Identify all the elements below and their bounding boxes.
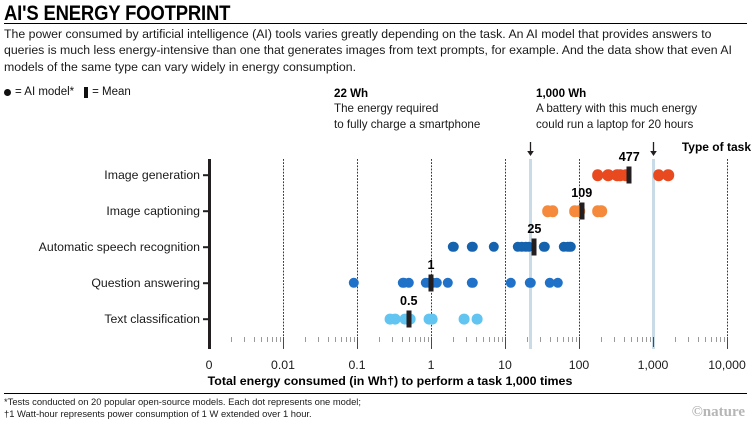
reference-arrow bbox=[649, 142, 659, 156]
x-tick-label: 1,000 bbox=[638, 358, 669, 372]
legend-mean-bar-icon bbox=[84, 87, 88, 98]
data-point bbox=[404, 278, 414, 288]
y-tick-image-captioning: Image captioning bbox=[4, 204, 200, 218]
y-tick-mark bbox=[203, 210, 209, 212]
x-tick-label: 1 bbox=[428, 358, 435, 372]
data-point bbox=[539, 242, 549, 252]
x-minor-tick bbox=[568, 337, 569, 342]
x-minor-tick bbox=[624, 337, 625, 342]
standfirst-text: The power consumed by artificial intelli… bbox=[4, 26, 746, 75]
infographic-root: AI'S ENERGY FOOTPRINT The power consumed… bbox=[0, 0, 751, 426]
data-point bbox=[448, 242, 458, 252]
x-tick-label: 10,000 bbox=[708, 358, 746, 372]
x-axis-title: Total energy consumed (in Wh†) to perfor… bbox=[0, 374, 751, 388]
mean-marker bbox=[579, 203, 584, 220]
footnote-1: *Tests conducted on 20 popular open-sour… bbox=[4, 396, 361, 408]
callout-1000wh-value: 1,000 Wh bbox=[536, 86, 697, 101]
x-minor-tick bbox=[716, 337, 717, 342]
x-minor-tick bbox=[350, 337, 351, 342]
x-tick-label: 100 bbox=[569, 358, 590, 372]
y-tick-image-generation: Image generation bbox=[4, 168, 200, 182]
y-tick-text-classification: Text classification bbox=[4, 312, 200, 326]
x-minor-tick bbox=[498, 337, 499, 342]
x-minor-tick bbox=[328, 337, 329, 342]
x-axis-title-text: Total energy consumed (in Wh†) to perfor… bbox=[208, 374, 573, 388]
y-tick-mark bbox=[203, 282, 209, 284]
x-minor-tick bbox=[483, 337, 484, 342]
x-minor-tick bbox=[453, 337, 454, 342]
mean-value-label: 25 bbox=[527, 222, 541, 236]
data-point bbox=[595, 205, 607, 217]
x-tick-label: 0.1 bbox=[348, 358, 365, 372]
x-gridline bbox=[727, 159, 728, 349]
x-minor-tick bbox=[601, 337, 602, 342]
data-point bbox=[427, 314, 438, 325]
x-minor-tick bbox=[392, 337, 393, 342]
x-major-tick bbox=[579, 337, 580, 347]
x-tick-label: 10 bbox=[498, 358, 512, 372]
x-minor-tick bbox=[711, 337, 712, 342]
x-tick-label: 0.01 bbox=[271, 358, 295, 372]
x-minor-tick bbox=[572, 337, 573, 342]
x-minor-tick bbox=[489, 337, 490, 342]
x-minor-tick bbox=[272, 337, 273, 342]
x-minor-tick bbox=[466, 337, 467, 342]
y-tick-mark bbox=[203, 318, 209, 320]
mean-value-label: 0.5 bbox=[400, 294, 418, 308]
callout-1000wh-line1: A battery with this much energy bbox=[536, 102, 697, 115]
x-minor-tick bbox=[244, 337, 245, 342]
footer-rule bbox=[4, 393, 747, 394]
mean-value-label: 1 bbox=[427, 258, 434, 272]
x-minor-tick bbox=[341, 337, 342, 342]
x-gridline bbox=[357, 159, 358, 349]
x-minor-tick bbox=[261, 337, 262, 342]
x-major-tick bbox=[283, 337, 284, 347]
callout-22wh-value: 22 Wh bbox=[334, 86, 480, 101]
x-minor-tick bbox=[688, 337, 689, 342]
x-minor-tick bbox=[576, 337, 577, 342]
callout-22wh: 22 Wh The energy required to fully charg… bbox=[334, 86, 480, 132]
legend: = AI model* = Mean bbox=[4, 86, 131, 98]
x-minor-tick bbox=[354, 337, 355, 342]
callout-22wh-line2: to fully charge a smartphone bbox=[334, 118, 480, 131]
x-minor-tick bbox=[563, 337, 564, 342]
x-major-tick bbox=[431, 337, 432, 347]
callout-1000wh: 1,000 Wh A battery with this much energy… bbox=[536, 86, 697, 132]
x-minor-tick bbox=[614, 337, 615, 342]
x-minor-tick bbox=[305, 337, 306, 342]
x-minor-tick bbox=[637, 337, 638, 342]
x-gridline bbox=[283, 159, 284, 349]
x-minor-tick bbox=[502, 337, 503, 342]
x-minor-tick bbox=[276, 337, 277, 342]
x-minor-tick bbox=[420, 337, 421, 342]
x-tick-label: 0 bbox=[206, 358, 213, 372]
x-minor-tick bbox=[540, 337, 541, 342]
x-minor-tick bbox=[335, 337, 336, 342]
y-tick-mark bbox=[203, 246, 209, 248]
y-axis-line bbox=[208, 159, 211, 349]
mean-value-label: 109 bbox=[571, 186, 592, 200]
x-major-tick bbox=[727, 337, 728, 347]
x-axis-zero-tick bbox=[208, 335, 211, 348]
x-minor-tick bbox=[650, 337, 651, 342]
data-point bbox=[565, 242, 575, 252]
x-minor-tick bbox=[476, 337, 477, 342]
reference-arrow bbox=[526, 142, 536, 156]
x-minor-tick bbox=[379, 337, 380, 342]
mean-marker bbox=[627, 167, 632, 184]
x-minor-tick bbox=[424, 337, 425, 342]
legend-model-label: = AI model* bbox=[15, 86, 74, 98]
x-major-tick bbox=[357, 337, 358, 347]
x-minor-tick bbox=[631, 337, 632, 342]
legend-mean-label: = Mean bbox=[92, 86, 131, 98]
x-minor-tick bbox=[346, 337, 347, 342]
mean-marker bbox=[406, 311, 411, 328]
y-tick-automatic-speech-recognition: Automatic speech recognition bbox=[4, 240, 200, 254]
x-minor-tick bbox=[409, 337, 410, 342]
x-minor-tick bbox=[231, 337, 232, 342]
x-minor-tick bbox=[675, 337, 676, 342]
callout-1000wh-line2: could run a laptop for 20 hours bbox=[536, 118, 693, 131]
x-minor-tick bbox=[280, 337, 281, 342]
x-minor-tick bbox=[705, 337, 706, 342]
x-minor-tick bbox=[642, 337, 643, 342]
data-point bbox=[525, 278, 535, 288]
chart-plot-area: Type of task Image generationImage capti… bbox=[0, 140, 751, 375]
mean-marker bbox=[532, 239, 537, 256]
data-point bbox=[506, 278, 516, 288]
x-major-tick bbox=[653, 337, 654, 347]
x-minor-tick bbox=[646, 337, 647, 342]
x-minor-tick bbox=[254, 337, 255, 342]
x-minor-tick bbox=[550, 337, 551, 342]
footnote-2: †1 Watt-hour represents power consumptio… bbox=[4, 408, 361, 420]
mean-value-label: 477 bbox=[619, 150, 640, 164]
data-point bbox=[443, 278, 453, 288]
x-minor-tick bbox=[415, 337, 416, 342]
callout-22wh-line1: The energy required bbox=[334, 102, 438, 115]
title-rule bbox=[4, 23, 747, 24]
x-minor-tick bbox=[724, 337, 725, 342]
data-point bbox=[662, 169, 674, 181]
x-minor-tick bbox=[318, 337, 319, 342]
data-point bbox=[547, 205, 559, 217]
x-minor-tick bbox=[428, 337, 429, 342]
data-point bbox=[488, 242, 498, 252]
mean-marker bbox=[429, 275, 434, 292]
x-minor-tick bbox=[557, 337, 558, 342]
data-point bbox=[467, 278, 477, 288]
data-point bbox=[467, 242, 477, 252]
y-tick-mark bbox=[203, 174, 209, 176]
x-minor-tick bbox=[494, 337, 495, 342]
x-gridline bbox=[505, 159, 506, 349]
x-minor-tick bbox=[527, 337, 528, 342]
x-minor-tick bbox=[402, 337, 403, 342]
legend-model-dot-icon bbox=[4, 89, 11, 96]
x-minor-tick bbox=[698, 337, 699, 342]
x-major-tick bbox=[505, 337, 506, 347]
reference-band-1000wh bbox=[652, 159, 655, 349]
x-axis: 00.010.11101001,00010,000 bbox=[0, 349, 751, 375]
data-point bbox=[459, 314, 470, 325]
nature-credit: ©nature bbox=[692, 404, 745, 421]
data-point bbox=[553, 278, 563, 288]
y-tick-question-answering: Question answering bbox=[4, 276, 200, 290]
x-minor-tick bbox=[720, 337, 721, 342]
x-minor-tick bbox=[267, 337, 268, 342]
data-point bbox=[472, 314, 483, 325]
footnotes: *Tests conducted on 20 popular open-sour… bbox=[4, 396, 361, 421]
